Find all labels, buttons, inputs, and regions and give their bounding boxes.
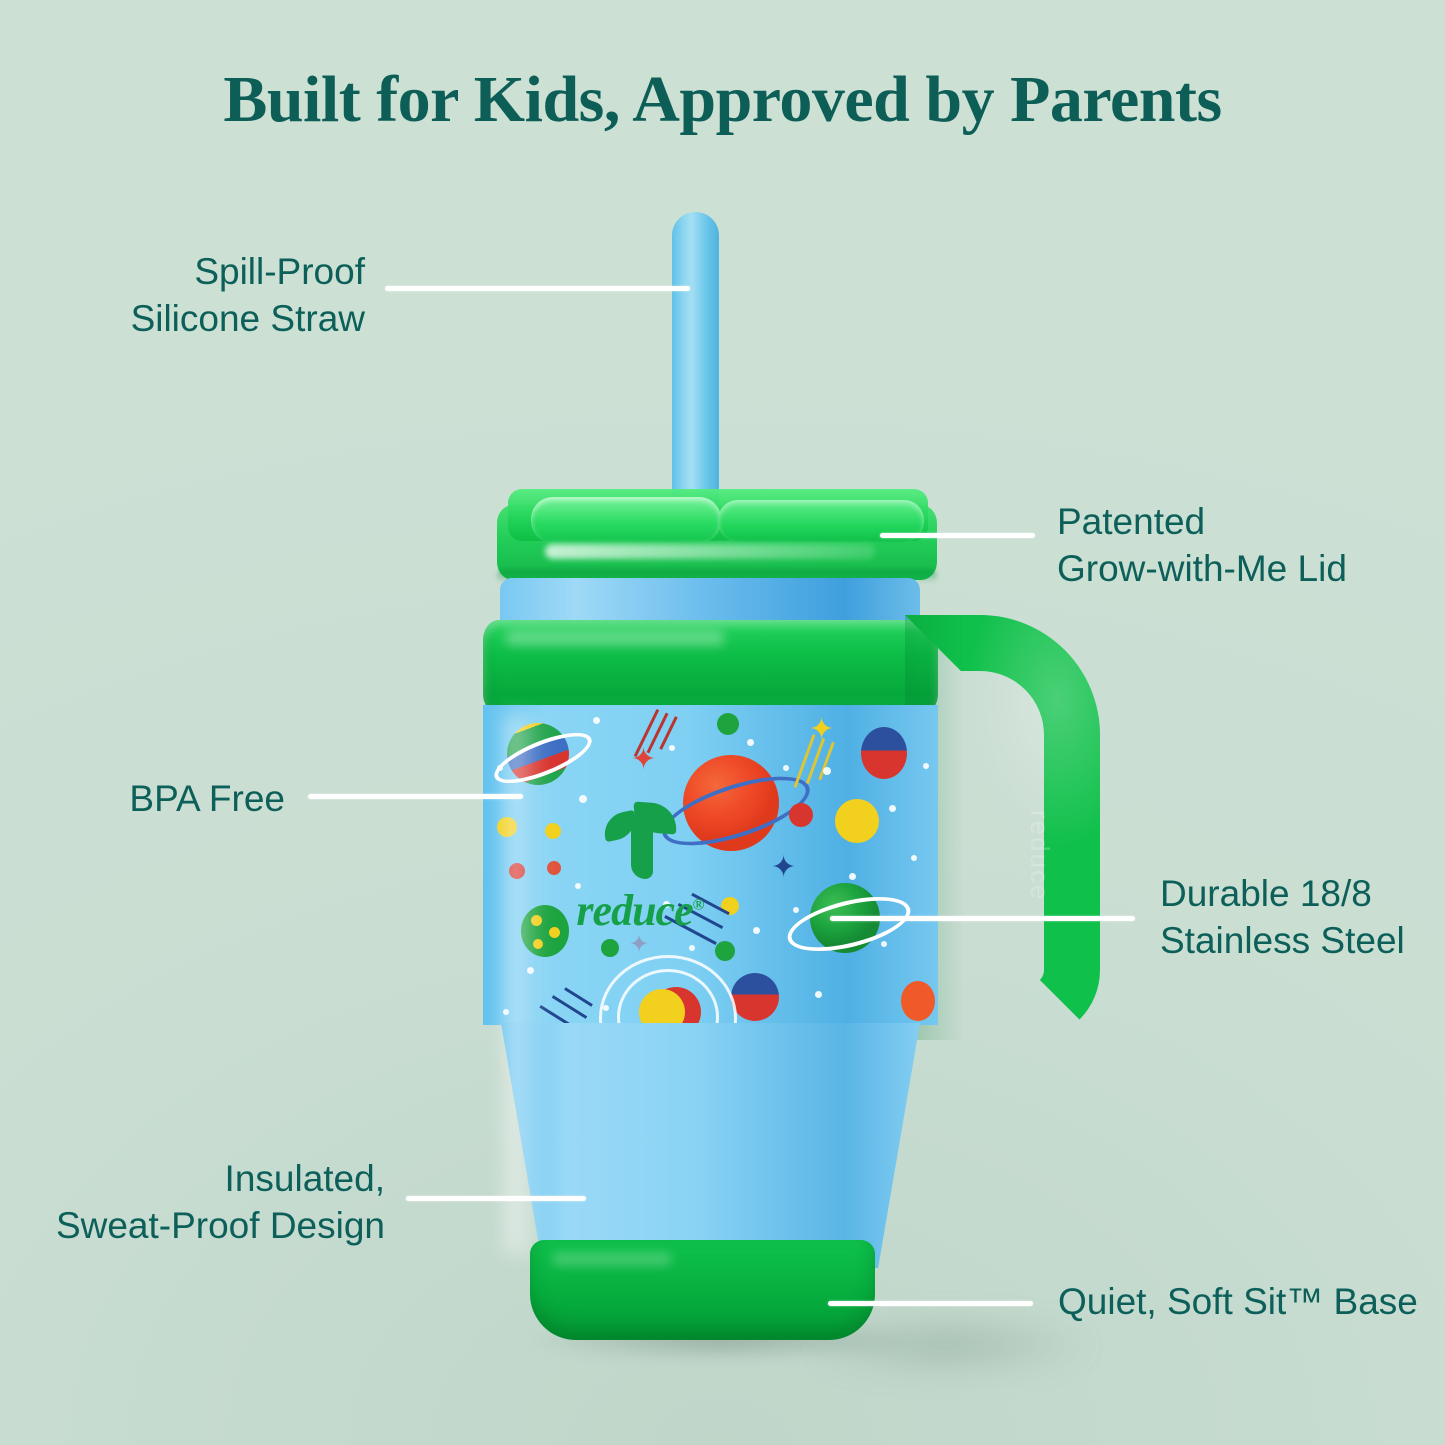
- leader-line-straw: [385, 286, 690, 291]
- callout-patented-grow-with-me-lid: Patented Grow-with-Me Lid: [1057, 498, 1445, 593]
- starfield-dot: [593, 717, 600, 724]
- leader-line-steel: [830, 916, 1135, 921]
- comet-yellow-icon: [799, 727, 859, 797]
- callout-line: BPA Free: [0, 775, 285, 822]
- comet-navy-2-icon: [559, 973, 629, 1025]
- callout-insulated-sweat-proof-design: Insulated, Sweat-Proof Design: [0, 1155, 385, 1250]
- star-grey-icon: ✦: [629, 933, 649, 957]
- planet-orange-small-icon: [901, 981, 935, 1021]
- starfield-dot: [747, 739, 754, 746]
- callout-line: Durable 18/8: [1160, 870, 1445, 917]
- starfield-dot: [783, 765, 789, 771]
- leaf-stem-shape: [631, 815, 653, 879]
- starfield-dot: [849, 873, 856, 880]
- tumbler-body: ✦ ✦ ✦ ✦: [483, 705, 938, 1265]
- brand-logo: reduce®: [545, 801, 735, 936]
- star-navy-icon: ✦: [771, 853, 796, 883]
- callout-line: Patented: [1057, 498, 1445, 545]
- registered-mark: ®: [693, 896, 704, 913]
- callout-line: Spill-Proof: [0, 248, 365, 295]
- infographic-canvas: Built for Kids, Approved by Parents redu…: [0, 0, 1445, 1445]
- callout-bpa-free: BPA Free: [0, 775, 285, 822]
- starfield-dot: [823, 767, 831, 775]
- soft-sit-base-highlight: [552, 1252, 672, 1266]
- leader-line-lid: [880, 533, 1035, 538]
- callout-line: Grow-with-Me Lid: [1057, 545, 1445, 592]
- starfield-dot: [881, 941, 887, 947]
- dot-red-icon: [789, 803, 813, 827]
- callout-durable-stainless-steel: Durable 18/8 Stainless Steel: [1160, 870, 1445, 965]
- callout-line: Insulated,: [0, 1155, 385, 1202]
- leader-line-bpa: [308, 794, 523, 799]
- tumbler-body-lower: [501, 1023, 920, 1268]
- starfield-dot: [793, 907, 799, 913]
- starfield-dot: [603, 1005, 609, 1011]
- callout-line: Stainless Steel: [1160, 917, 1445, 964]
- leaf-sprout-icon: [603, 801, 677, 879]
- callout-quiet-soft-sit-base: Quiet, Soft Sit™ Base: [1058, 1278, 1445, 1325]
- lid-highlight: [545, 544, 875, 559]
- starfield-dot: [753, 927, 760, 934]
- dot-green-icon: [717, 713, 739, 735]
- callout-line: Quiet, Soft Sit™ Base: [1058, 1278, 1445, 1325]
- planet-blue-red-icon: [861, 727, 907, 779]
- tumbler-body-patterned: ✦ ✦ ✦ ✦: [483, 705, 938, 1025]
- callout-line: Sweat-Proof Design: [0, 1202, 385, 1249]
- planet-blue-red-2-icon: [731, 973, 779, 1021]
- dot-green-right-icon: [715, 941, 735, 961]
- dot-teal-icon: [601, 939, 619, 957]
- green-grip-ring-highlight: [505, 630, 725, 646]
- lid-slider-left: [531, 497, 721, 543]
- starfield-dot: [669, 745, 675, 751]
- callout-line: Silicone Straw: [0, 295, 365, 342]
- starfield-dot: [923, 763, 929, 769]
- comet-red-icon: [645, 707, 701, 767]
- planet-yellow-icon: [835, 799, 879, 843]
- handle-emboss-text: reduce: [1024, 810, 1055, 902]
- starfield-dot: [815, 991, 822, 998]
- starfield-dot: [889, 805, 896, 812]
- callout-spill-proof-silicone-straw: Spill-Proof Silicone Straw: [0, 248, 365, 343]
- starfield-dot: [497, 765, 503, 771]
- starfield-dot: [689, 945, 695, 951]
- leader-line-insulated: [406, 1196, 586, 1201]
- starfield-dot: [911, 855, 917, 861]
- brand-name: reduce®: [545, 885, 735, 936]
- leader-line-base: [828, 1301, 1033, 1306]
